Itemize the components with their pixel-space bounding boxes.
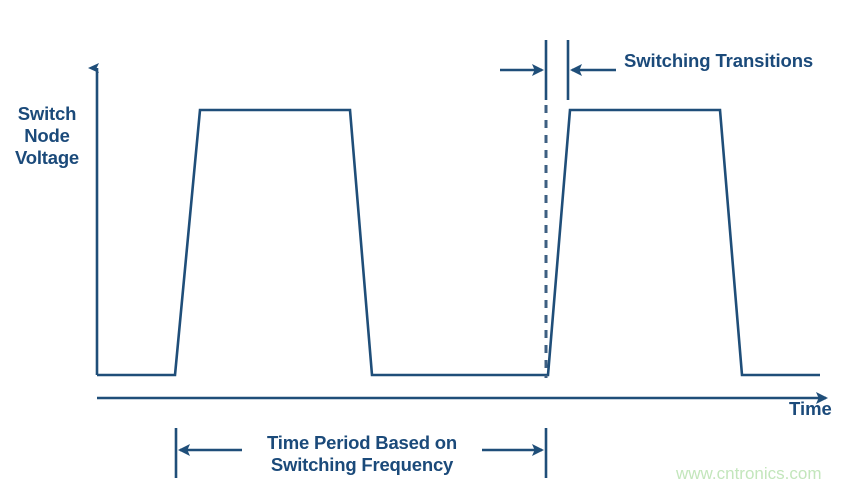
x-axis-label: Time [789, 398, 832, 420]
time-period-label: Time Period Based on Switching Frequency [246, 432, 478, 476]
switching-waveform-diagram [0, 0, 851, 495]
watermark: www.cntronics.com [676, 464, 821, 484]
time-period-label-line-1: Time Period Based on [246, 432, 478, 454]
diagram-canvas: Switch Node Voltage Time Switching Trans… [0, 0, 851, 495]
y-axis-label: Switch Node Voltage [4, 103, 90, 168]
switch-node-voltage-waveform [97, 110, 820, 375]
y-axis-label-line-2: Node [4, 125, 90, 147]
y-axis-label-line-1: Switch [4, 103, 90, 125]
time-period-label-line-2: Switching Frequency [246, 454, 478, 476]
y-axis-label-line-3: Voltage [4, 147, 90, 169]
switching-transitions-label: Switching Transitions [624, 50, 813, 72]
